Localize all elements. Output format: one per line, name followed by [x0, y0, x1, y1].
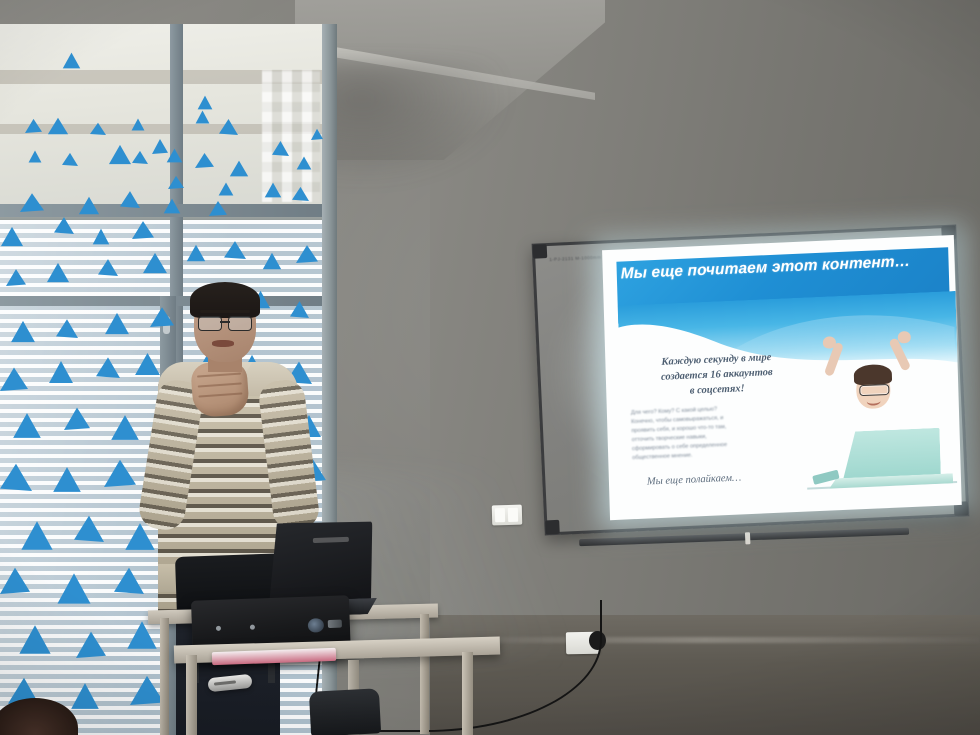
slide-body-text: Для чего? Кому? С какой целью? Конечно, … — [631, 402, 807, 463]
projector-vent — [328, 620, 342, 628]
projector-lens — [308, 618, 324, 633]
projector-indicator-led — [250, 625, 255, 630]
presenter-glasses — [198, 316, 252, 329]
illustration-hair — [854, 364, 893, 386]
projector-indicator-led — [216, 626, 221, 631]
front-table-leg — [462, 652, 473, 735]
whiteboard-with-projection: 1-PJ-2131 M-1000mm CL Мы еще почитаем эт… — [532, 225, 970, 536]
laptop-logo — [313, 537, 349, 543]
classroom-presentation-photo: 1-PJ-2131 M-1000mm CL Мы еще почитаем эт… — [0, 0, 980, 735]
floor — [430, 615, 980, 735]
presenter-eyebrows — [200, 310, 250, 313]
projected-slide: Мы еще почитаем этот контент… Каждую сек… — [602, 235, 962, 520]
illustration-right-fist — [898, 331, 911, 344]
illustration-glasses-icon — [859, 384, 889, 396]
light-switch[interactable] — [492, 505, 523, 526]
glass-block-panel — [262, 70, 320, 202]
slide-footer-text: Мы еще полайкаем… — [647, 469, 827, 488]
power-plug[interactable] — [589, 631, 606, 650]
marker-on-tray — [745, 532, 751, 544]
bag-under-table — [309, 688, 381, 735]
window-upper-pane — [0, 24, 336, 210]
front-table-leg — [186, 655, 197, 735]
back-table-leg — [160, 618, 169, 735]
laptop-screen — [266, 520, 375, 608]
slide-illustration — [803, 331, 958, 499]
back-table-leg — [420, 614, 429, 734]
whiteboard-label: 1-PJ-2131 M-1000mm CL — [549, 254, 609, 262]
floor-baseboard — [430, 637, 980, 643]
illustration-laptop-screen — [842, 428, 941, 480]
illustration-left-fist — [823, 336, 836, 349]
presenter-mouth — [212, 340, 234, 347]
slide-quote: Каждую секунду в мире создается 16 аккау… — [631, 350, 802, 402]
